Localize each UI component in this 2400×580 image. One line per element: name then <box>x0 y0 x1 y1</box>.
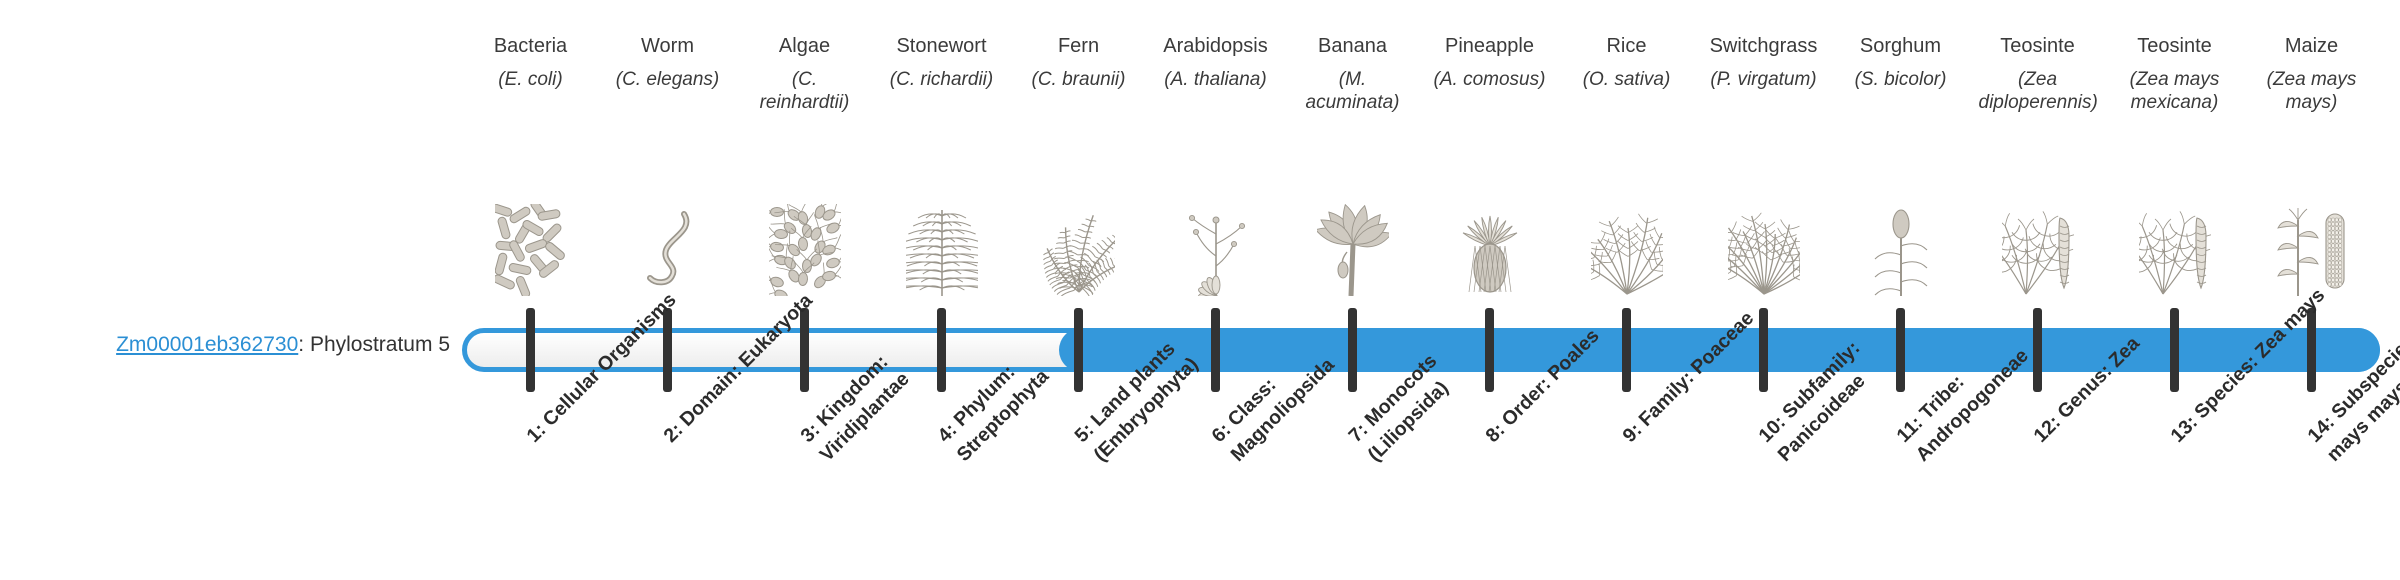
species-common-name: Stonewort <box>896 34 986 58</box>
species-common-name: Bacteria <box>494 34 567 58</box>
species-common-name: Banana <box>1318 34 1387 58</box>
fern-icon <box>1010 186 1147 296</box>
phylostratum-value: Phylostratum 5 <box>310 333 450 356</box>
species-common-name: Rice <box>1606 34 1646 58</box>
teosinte-icon <box>1969 186 2106 296</box>
species-column: Rice(O. sativa) <box>1558 34 1695 204</box>
stonewort-icon <box>873 186 1010 296</box>
gene-id-link[interactable]: Zm00001eb362730 <box>116 333 298 356</box>
species-common-name: Pineapple <box>1445 34 1534 58</box>
species-column: Worm(C. elegans) <box>599 34 736 204</box>
species-scientific-name: (Zea mays mays) <box>2253 68 2371 114</box>
species-scientific-name: (O. sativa) <box>1583 68 1671 91</box>
species-scientific-name: (M. acuminata) <box>1294 68 1412 114</box>
species-column: Banana(M. acuminata) <box>1284 34 1421 204</box>
switchgrass-icon <box>1695 186 1832 296</box>
worm-icon <box>599 186 736 296</box>
species-scientific-name: (A. thaliana) <box>1164 68 1266 91</box>
species-column: Pineapple(A. comosus) <box>1421 34 1558 204</box>
species-column: Teosinte(Zea mays mexicana) <box>2106 34 2243 204</box>
species-scientific-name: (S. bicolor) <box>1855 68 1947 91</box>
species-column: Switchgrass(P. virgatum) <box>1695 34 1832 204</box>
species-scientific-name: (C. braunii) <box>1032 68 1126 91</box>
species-column: Fern(C. braunii) <box>1010 34 1147 204</box>
teosinte-icon <box>2106 186 2243 296</box>
species-column: Arabidopsis(A. thaliana) <box>1147 34 1284 204</box>
gene-label-separator: : <box>298 333 310 356</box>
stratum-label-row: 1: Cellular Organisms2: Domain: Eukaryot… <box>462 420 2380 580</box>
sorghum-icon <box>1832 186 1969 296</box>
species-scientific-name: (Zea diploperennis) <box>1979 68 2097 114</box>
species-scientific-name: (C. elegans) <box>616 68 720 91</box>
species-column: Teosinte(Zea diploperennis) <box>1969 34 2106 204</box>
rice-icon <box>1558 186 1695 296</box>
species-common-name: Switchgrass <box>1710 34 1818 58</box>
pineapple-icon <box>1421 186 1558 296</box>
species-common-name: Arabidopsis <box>1163 34 1268 58</box>
species-scientific-name: (A. comosus) <box>1434 68 1546 91</box>
banana-icon <box>1284 186 1421 296</box>
species-scientific-name: (P. virgatum) <box>1710 68 1816 91</box>
species-common-name: Teosinte <box>2000 34 2075 58</box>
gene-phylostratum-label: Zm00001eb362730: Phylostratum 5 <box>0 332 450 358</box>
species-column: Sorghum(S. bicolor) <box>1832 34 1969 204</box>
phylostratum-figure: Zm00001eb362730: Phylostratum 5 Bacteria… <box>0 0 2400 580</box>
species-common-name: Fern <box>1058 34 1099 58</box>
species-common-name: Algae <box>779 34 830 58</box>
species-common-name: Worm <box>641 34 694 58</box>
species-scientific-name: (C. richardii) <box>890 68 993 91</box>
species-common-name: Teosinte <box>2137 34 2212 58</box>
species-illustration-row <box>462 186 2380 296</box>
species-header-row: Bacteria(E. coli)Worm(C. elegans)Algae(C… <box>462 34 2380 204</box>
species-common-name: Maize <box>2285 34 2338 58</box>
species-scientific-name: (Zea mays mexicana) <box>2116 68 2234 114</box>
species-column: Maize(Zea mays mays) <box>2243 34 2380 204</box>
maize-icon <box>2243 186 2380 296</box>
arabidopsis-icon <box>1147 186 1284 296</box>
bacteria-icon <box>462 186 599 296</box>
phylostratum-tick[interactable] <box>526 308 535 392</box>
species-scientific-name: (C. reinhardtii) <box>746 68 864 114</box>
species-column: Stonewort(C. richardii) <box>873 34 1010 204</box>
species-scientific-name: (E. coli) <box>498 68 562 91</box>
algae-icon <box>736 186 873 296</box>
species-column: Algae(C. reinhardtii) <box>736 34 873 204</box>
species-column: Bacteria(E. coli) <box>462 34 599 204</box>
species-common-name: Sorghum <box>1860 34 1941 58</box>
